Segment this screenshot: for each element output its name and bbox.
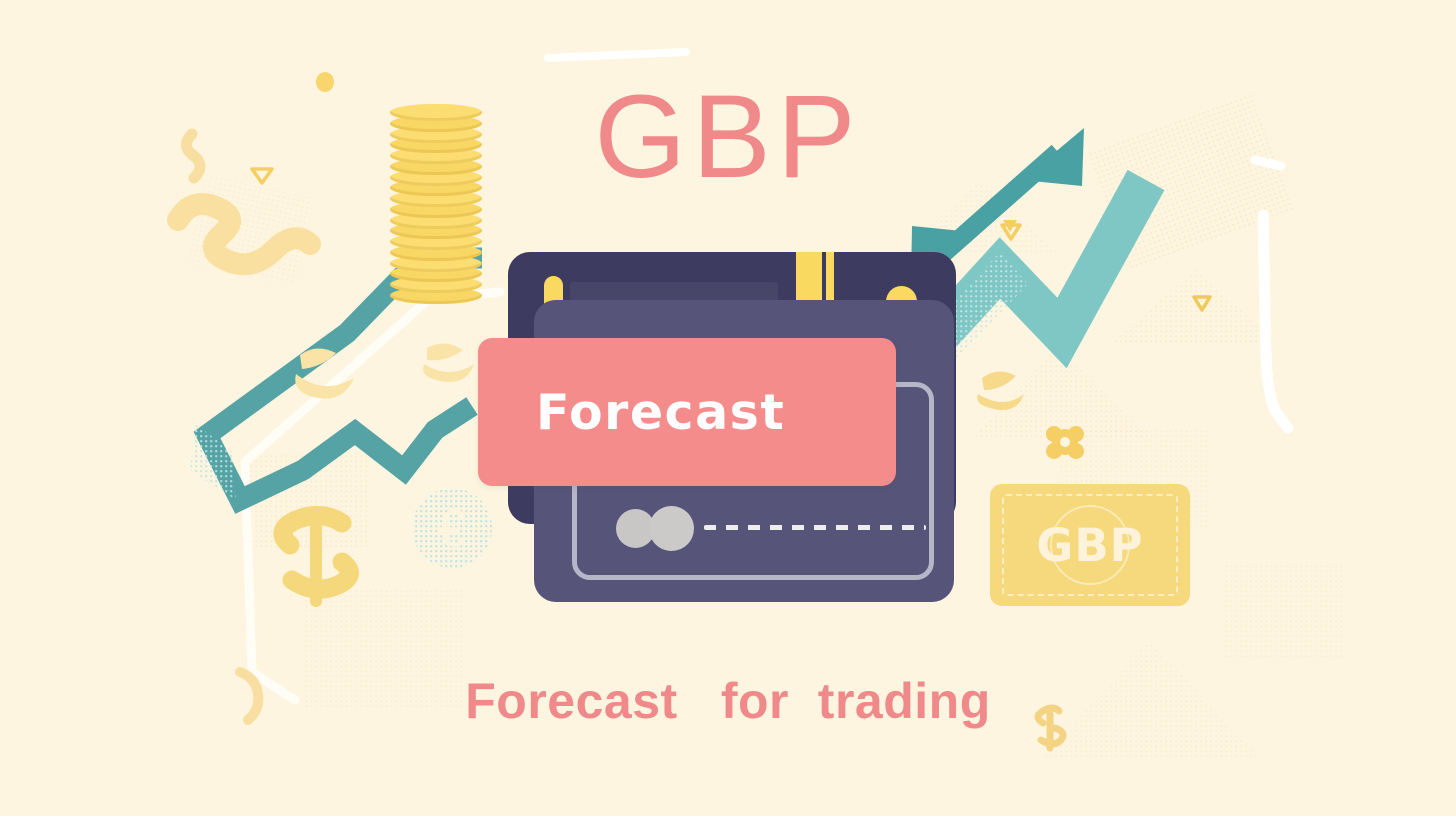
forecast-banner-label: Forecast (536, 384, 785, 441)
forecast-banner: Forecast (478, 338, 896, 486)
illustration-canvas: € GBP GBP Forecast Forecast for trading (0, 0, 1456, 816)
card-front-dashed-line (704, 525, 926, 530)
card-front-chip-circle-right (649, 506, 694, 551)
page-title: GBP (0, 78, 1456, 196)
coin (390, 104, 482, 121)
gbp-banknote: GBP (990, 484, 1190, 606)
banknote-label: GBP (990, 484, 1190, 606)
euro-coin-symbol: € (438, 500, 467, 558)
coin-stack (390, 104, 482, 304)
caption-text: Forecast for trading (0, 672, 1456, 730)
